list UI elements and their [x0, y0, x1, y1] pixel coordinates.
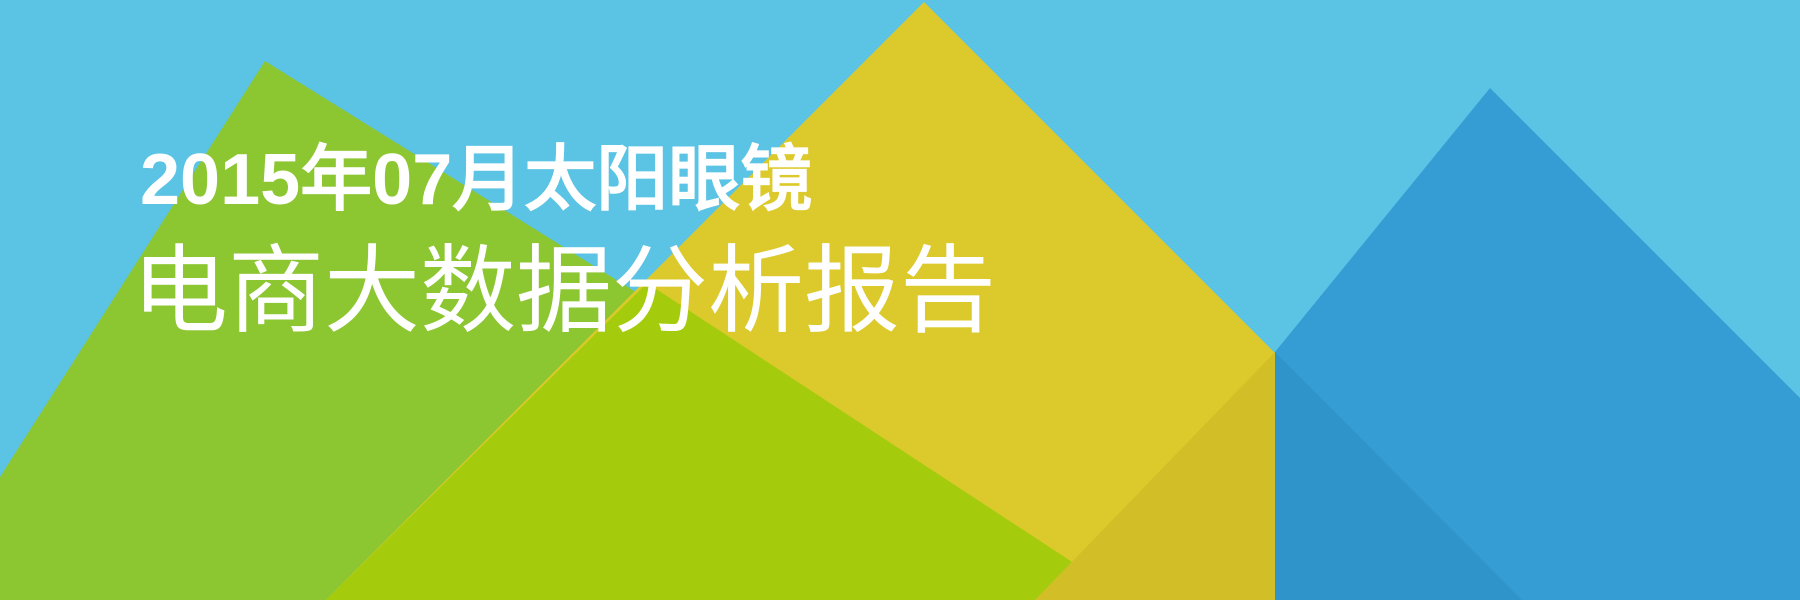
background-geometry [0, 0, 1800, 600]
report-cover-banner: 2015年07月太阳眼镜 电商大数据分析报告 [0, 0, 1800, 600]
